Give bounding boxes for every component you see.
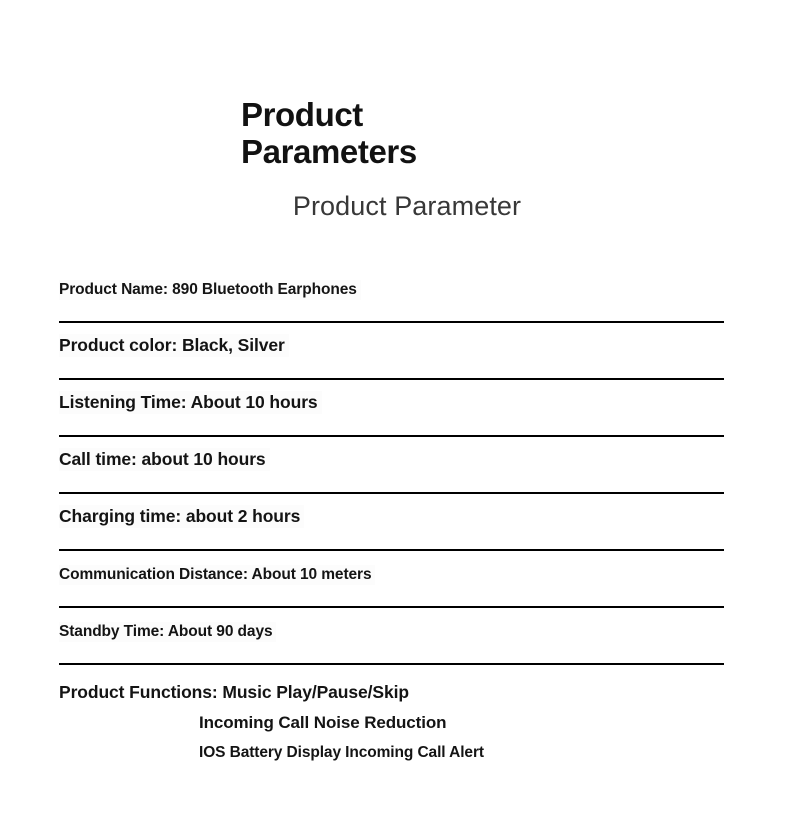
product-parameters-page: Product Parameters Product Parameter Pro… (0, 0, 790, 831)
spec-product-color: Product color: Black, Silver (59, 334, 289, 357)
table-row: Product color: Black, Silver (59, 323, 724, 380)
spec-product-functions: Product Functions: Music Play/Pause/Skip (59, 680, 724, 704)
table-row: Communication Distance: About 10 meters (59, 551, 724, 608)
table-row: Call time: about 10 hours (59, 437, 724, 494)
page-subtitle: Product Parameter (0, 190, 790, 222)
table-row: Charging time: about 2 hours (59, 494, 724, 551)
spec-listening-time: Listening Time: About 10 hours (59, 391, 322, 414)
table-row: Product Name: 890 Bluetooth Earphones (59, 266, 724, 323)
spec-call-time: Call time: about 10 hours (59, 448, 270, 471)
spec-communication-distance: Communication Distance: About 10 meters (59, 565, 375, 585)
product-functions-block: Product Functions: Music Play/Pause/Skip… (59, 680, 724, 764)
function-noise-reduction: Incoming Call Noise Reduction (199, 711, 724, 735)
table-row: Standby Time: About 90 days (59, 608, 724, 665)
spec-table: Product Name: 890 Bluetooth Earphones Pr… (59, 266, 724, 665)
spec-standby-time: Standby Time: About 90 days (59, 622, 276, 642)
page-title: Product Parameters (241, 96, 661, 170)
function-battery-display: IOS Battery Display Incoming Call Alert (199, 742, 724, 764)
spec-charging-time: Charging time: about 2 hours (59, 505, 304, 528)
table-row: Listening Time: About 10 hours (59, 380, 724, 437)
spec-product-name: Product Name: 890 Bluetooth Earphones (59, 280, 361, 300)
